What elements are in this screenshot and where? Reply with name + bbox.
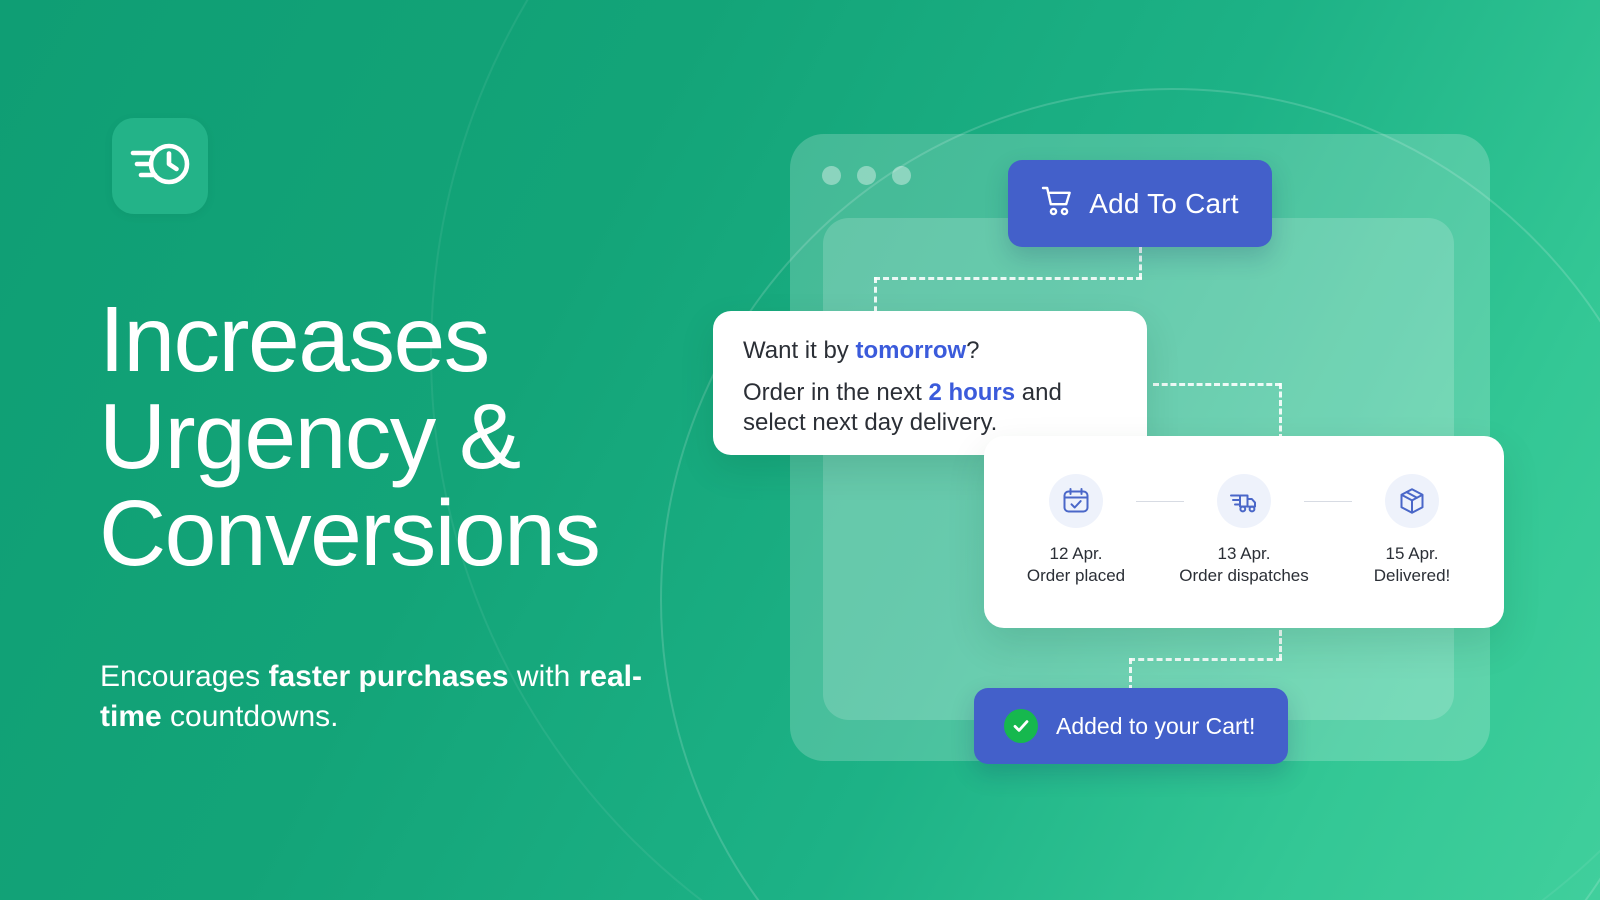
connector-line [874,277,1142,280]
delivery-timeline-card: 12 Apr. Order placed 13 Apr. [984,436,1504,628]
tooltip-question-prefix: Want it by [743,337,855,364]
tooltip-instruction: Order in the next 2 hours and select nex… [743,378,1123,438]
timeline-steps: 12 Apr. Order placed 13 Apr. [1016,474,1472,587]
connector-line [1153,383,1281,386]
subtitle-part: with [509,660,579,693]
delivery-tooltip-card: Want it by tomorrow? Order in the next 2… [713,311,1147,455]
subtitle-part: countdowns. [162,700,339,733]
timeline-desc: Delivered! [1374,565,1451,587]
toast-label: Added to your Cart! [1056,713,1255,740]
window-control-dots [822,166,911,185]
tooltip-question-suffix: ? [966,337,979,364]
tooltip-highlight-hours: 2 hours [928,379,1015,406]
add-to-cart-label: Add To Cart [1089,188,1239,220]
package-box-icon [1385,474,1439,528]
tooltip-instruction-prefix: Order in the next [743,379,928,406]
connector-line [1139,247,1142,279]
window-dot [822,166,841,185]
added-to-cart-toast: Added to your Cart! [974,688,1288,764]
delivery-truck-icon [1217,474,1271,528]
connector-line [1129,658,1282,661]
timeline-date: 13 Apr. [1218,543,1271,565]
page-title: Increases Urgency & Conversions [99,291,739,582]
subtitle-part: Encourages [100,660,268,693]
promo-banner: Increases Urgency & Conversions Encourag… [0,0,1600,900]
timeline-connector [1304,501,1352,502]
timeline-step-order-dispatches: 13 Apr. Order dispatches [1184,474,1304,587]
timeline-date: 12 Apr. [1050,543,1103,565]
connector-line [1279,383,1282,440]
timeline-connector [1136,501,1184,502]
shopping-cart-icon [1041,185,1075,222]
window-dot [857,166,876,185]
timeline-desc: Order placed [1027,565,1125,587]
tooltip-highlight-tomorrow: tomorrow [855,337,966,364]
add-to-cart-button[interactable]: Add To Cart [1008,160,1272,247]
brand-logo-tile [112,118,208,214]
window-dot [892,166,911,185]
fast-clock-icon [129,139,191,194]
tooltip-question: Want it by tomorrow? [743,337,980,365]
calendar-check-icon [1049,474,1103,528]
check-circle-icon [1004,709,1038,743]
timeline-step-delivered: 15 Apr. Delivered! [1352,474,1472,587]
hero-text-column: Increases Urgency & Conversions Encourag… [99,0,719,900]
subtitle-part-bold: faster purchases [268,660,508,693]
timeline-desc: Order dispatches [1179,565,1308,587]
hero-subtitle: Encourages faster purchases with real-ti… [100,657,675,737]
timeline-step-order-placed: 12 Apr. Order placed [1016,474,1136,587]
timeline-date: 15 Apr. [1386,543,1439,565]
connector-line [1129,658,1132,691]
